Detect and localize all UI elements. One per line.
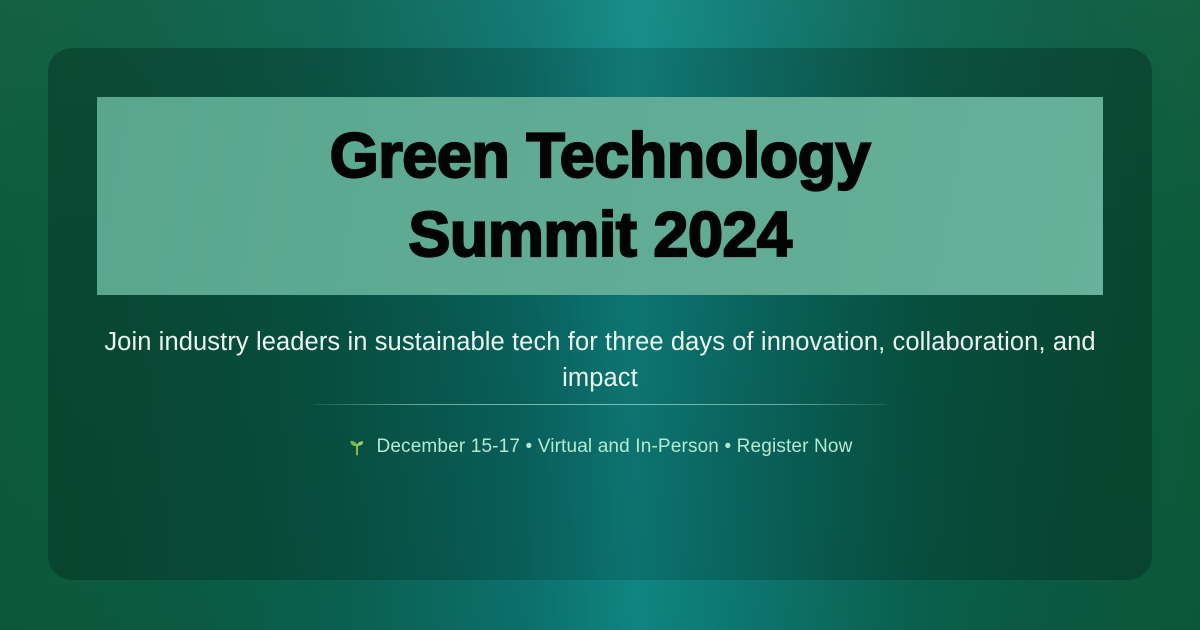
- event-banner: Green Technology Summit 2024 Join indust…: [0, 0, 1200, 630]
- page-title: Green Technology Summit 2024: [306, 117, 894, 276]
- section-divider: [314, 404, 886, 405]
- title-banner-band: Green Technology Summit 2024: [97, 97, 1103, 295]
- banner-subtitle: Join industry leaders in sustainable tec…: [98, 325, 1102, 396]
- banner-card: Green Technology Summit 2024 Join indust…: [48, 48, 1152, 580]
- seedling-icon: [347, 436, 367, 456]
- event-meta[interactable]: December 15-17 • Virtual and In-Person •…: [98, 436, 1102, 456]
- event-meta-text: December 15-17 • Virtual and In-Person •…: [376, 437, 852, 456]
